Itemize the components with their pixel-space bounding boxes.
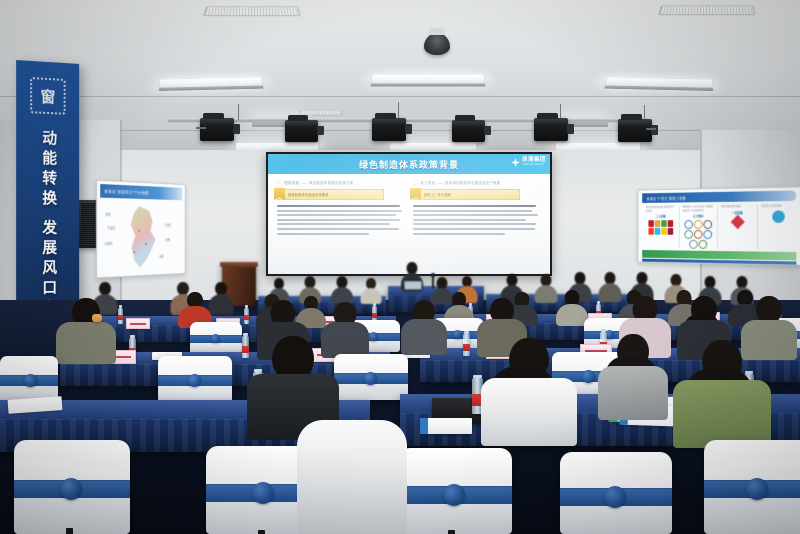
attendee — [300, 420, 404, 534]
banner-emblem-icon: 窗 — [30, 77, 65, 115]
attendee — [484, 338, 574, 438]
map-graphic: 园区 开发区 高新区 产业园 新城 港区 — [100, 201, 182, 274]
poster-column: 坚持创新驱动发展 构建现代产业体系 三大战略 — [643, 205, 676, 248]
poster-column-kicker: 生态优先 绿色发展 — [761, 204, 795, 208]
poster-column: 绿色低碳 循环发展 一张蓝图 — [717, 205, 754, 250]
chair — [334, 354, 408, 400]
chair — [704, 440, 800, 534]
water-bottle — [118, 308, 123, 324]
diamond-icon — [730, 214, 744, 228]
poster-column-heading: 三大战略 — [646, 214, 676, 218]
poster-left-title: 某某区"双招双引"产业地图 — [104, 188, 148, 195]
attendee — [600, 334, 666, 414]
slide-body: 一、国家层面 —— 绿色制造体系建设实施方案 绿色制造体系建设总体要求 二、地方… — [268, 174, 550, 237]
slide-ribbon-label: 绿色制造体系建设总体要求 — [288, 192, 329, 197]
chair — [190, 322, 242, 354]
attendee — [330, 276, 354, 302]
banner-emblem-glyph: 窗 — [41, 85, 56, 107]
wall-speaker — [78, 200, 98, 248]
ceiling-light — [605, 77, 713, 87]
slide-ribbon-banner: 绿色工厂评价通则 — [413, 189, 520, 200]
map-label: 产业园 — [164, 223, 171, 227]
notebook — [420, 418, 472, 434]
stage-spotlight — [200, 118, 234, 141]
ceiling-light — [159, 78, 262, 88]
poster-regional-map: 某某区"双招双引"产业地图 园区 开发区 高新区 产业园 新城 港区 — [96, 180, 186, 279]
poster-column-kicker: 聚焦重点产业链 推进产业基础高级化 产业链现代化 — [683, 205, 715, 212]
slide-ribbon-banner: 绿色制造体系建设总体要求 — [277, 189, 384, 200]
slide-ribbon-label: 绿色工厂评价通则 — [424, 192, 451, 197]
stage-spotlight — [618, 119, 652, 142]
presenter-laptop — [404, 281, 422, 290]
map-label: 园区 — [106, 213, 111, 217]
chair — [560, 452, 672, 534]
projection-screen: 绿色制造体系政策背景 浪潮集团 INSPUR GROUP 一、国家层面 —— 绿… — [266, 152, 552, 276]
chair — [14, 440, 130, 534]
attendee — [360, 278, 382, 303]
poster-column: 生态优先 绿色发展 — [757, 204, 795, 250]
poster-right-title-bar: 某某区"十四五"规划三张图 — [642, 190, 796, 202]
poster-column-heading: 五大载体 — [683, 214, 715, 218]
face-mask — [92, 314, 102, 322]
attendee — [676, 340, 768, 440]
slide-title: 绿色制造体系政策背景 — [359, 158, 459, 171]
map-label: 港区 — [159, 255, 164, 259]
poster-five-year-plan: 某某区"十四五"规划三张图 坚持创新驱动发展 构建现代产业体系 三大战略 聚焦 — [638, 186, 800, 266]
presentation-slide: 绿色制造体系政策背景 浪潮集团 INSPUR GROUP 一、国家层面 —— 绿… — [268, 154, 550, 274]
water-bottle — [244, 308, 249, 324]
water-bottle — [242, 336, 249, 358]
ceiling-light — [371, 75, 485, 84]
map-label: 新城 — [165, 238, 170, 242]
attendee — [250, 336, 336, 432]
poster-right-title: 某某区"十四五"规划三张图 — [647, 195, 686, 200]
circle-icon — [772, 210, 785, 222]
ring-icon-row — [683, 220, 715, 249]
logo-subtitle: INSPUR GROUP — [522, 164, 546, 167]
dome-security-camera-icon — [424, 33, 450, 55]
map-label: 高新区 — [105, 242, 113, 246]
poster-column-kicker: 绿色低碳 循环发展 — [721, 205, 754, 209]
chair — [158, 356, 232, 402]
chair — [398, 448, 512, 534]
poster-left-title-bar: 某某区"双招双引"产业地图 — [100, 184, 182, 200]
stage-spotlight — [285, 120, 318, 142]
slide-column-kicker: 一、国家层面 —— 绿色制造体系建设实施方案 — [277, 180, 405, 185]
water-bottle — [463, 334, 470, 356]
map-label: 开发区 — [107, 226, 115, 230]
poster-column: 聚焦重点产业链 推进产业基础高级化 产业链现代化 五大载体 — [679, 205, 714, 249]
ceiling-vent — [204, 7, 300, 16]
company-logo: 浪潮集团 INSPUR GROUP — [511, 158, 546, 167]
slide-column-left: 一、国家层面 —— 绿色制造体系建设实施方案 绿色制造体系建设总体要求 — [277, 180, 405, 237]
stage-spotlight — [452, 120, 485, 142]
attendee-with-mask — [56, 298, 116, 360]
slide-column-right: 二、地方层面 —— 推动绿色制造体系建设的若干措施 绿色工厂评价通则 — [413, 180, 541, 237]
attendee — [178, 292, 212, 326]
ceiling-vent — [659, 6, 755, 15]
conference-room-photo: 某某区"双招双引"产业地图 园区 开发区 高新区 产业园 新城 港区 某某区"十… — [0, 0, 800, 534]
poster-column-kicker: 坚持创新驱动发展 构建现代产业体系 — [646, 205, 676, 212]
slide-header-bar: 绿色制造体系政策背景 浪潮集团 INSPUR GROUP — [268, 154, 550, 174]
sdg-badge-icon-row — [646, 220, 676, 235]
logo-mark-icon — [511, 158, 520, 167]
attendee — [556, 290, 588, 324]
chair — [0, 356, 58, 402]
name-card — [126, 318, 150, 329]
attendee — [402, 300, 446, 354]
poster-right-columns: 坚持创新驱动发展 构建现代产业体系 三大战略 聚焦重点产业链 推进产业基础高级化… — [639, 204, 800, 250]
stage-spotlight — [534, 118, 568, 141]
slide-column-kicker: 二、地方层面 —— 推动绿色制造体系建设的若干措施 — [413, 180, 541, 185]
stage-spotlight — [372, 118, 406, 141]
